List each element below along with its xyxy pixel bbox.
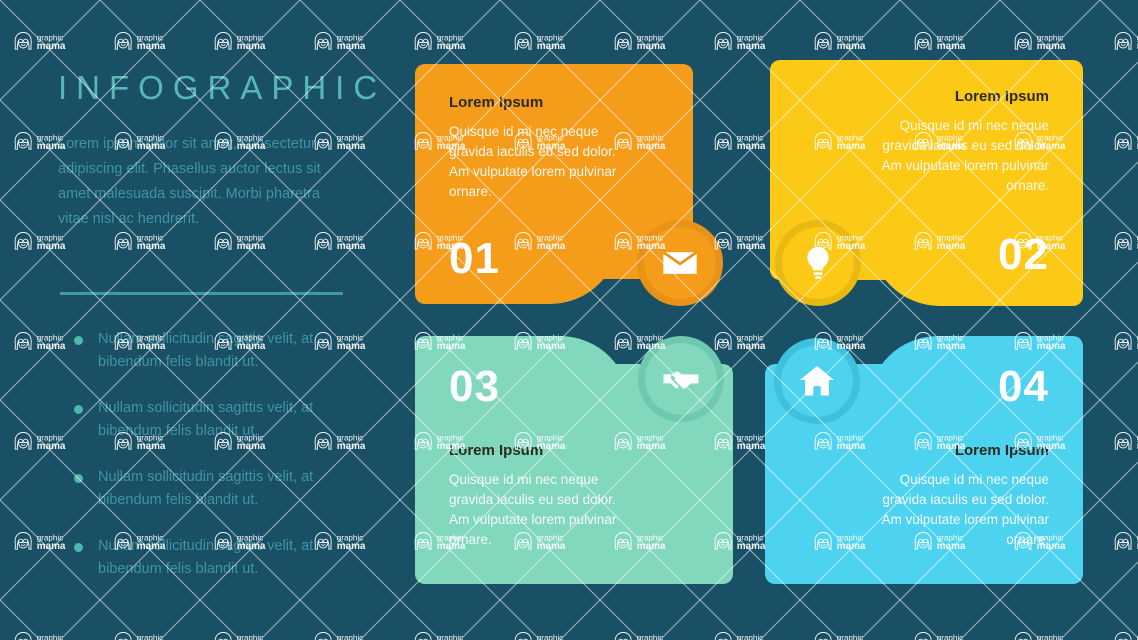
watermark-mark: graphicmama <box>415 32 466 52</box>
face-with-glasses-icon <box>15 132 31 149</box>
watermark-mark: graphicmama <box>715 632 766 640</box>
watermark-mark: graphicmama <box>615 32 666 52</box>
watermark-line-1: graphic <box>237 634 263 640</box>
watermark-line-2: mama <box>637 41 666 52</box>
bullet-dot-icon <box>74 405 83 414</box>
watermark-line-1: graphic <box>37 634 63 640</box>
watermark-mark: graphicmama <box>1115 32 1138 52</box>
card-text: Quisque id mi nec neque gravida iaculis … <box>449 470 631 550</box>
watermark-mark: graphicmama <box>215 632 266 640</box>
watermark-mark: graphicmama <box>715 132 766 152</box>
watermark-line-2: mama <box>937 41 966 52</box>
watermark-line-1: graphic <box>737 334 763 343</box>
list-item: Nullam sollicitudin sagittis velit, at b… <box>66 466 356 512</box>
info-card-01[interactable]: Lorem Ipsum Quisque id mi nec neque grav… <box>415 64 643 304</box>
face-with-glasses-icon <box>815 32 831 49</box>
watermark-line-2: mama <box>37 41 66 52</box>
envelope-icon <box>660 243 700 283</box>
watermark-mark: graphicmama <box>315 232 366 252</box>
info-card-02[interactable]: Lorem Ipsum Quisque id mi nec neque grav… <box>770 60 1083 305</box>
face-with-glasses-icon <box>715 632 731 640</box>
watermark-line-1: graphic <box>437 634 463 640</box>
face-with-glasses-icon <box>215 232 231 249</box>
face-with-glasses-icon <box>15 632 31 640</box>
watermark-line-1: graphic <box>937 34 963 43</box>
watermark-line-1: graphic <box>737 234 763 243</box>
watermark-mark: graphicmama <box>1115 532 1138 552</box>
face-with-glasses-icon <box>1115 332 1131 349</box>
face-with-glasses-icon <box>415 32 431 49</box>
watermark-mark: graphicmama <box>15 32 66 52</box>
card-shape-tail <box>415 184 620 304</box>
watermark-mark: graphicmama <box>1115 132 1138 152</box>
home-icon <box>797 361 837 401</box>
watermark-line-1: graphic <box>137 234 163 243</box>
watermark-line-2: mama <box>37 241 66 252</box>
face-with-glasses-icon <box>1115 432 1131 449</box>
watermark-mark: graphicmama <box>115 32 166 52</box>
face-with-glasses-icon <box>115 32 131 49</box>
card-icon-badge-02[interactable] <box>775 220 861 306</box>
card-heading: Lorem Ipsum <box>804 88 1049 105</box>
card-number: 02 <box>998 230 1049 280</box>
face-with-glasses-icon <box>1115 32 1131 49</box>
face-with-glasses-icon <box>115 232 131 249</box>
watermark-line-2: mama <box>237 41 266 52</box>
watermark-mark: graphicmama <box>315 32 366 52</box>
lightbulb-idea-icon <box>798 243 838 283</box>
face-with-glasses-icon <box>415 632 431 640</box>
card-number: 03 <box>449 362 500 412</box>
watermark-mark: graphicmama <box>715 32 766 52</box>
section-divider <box>60 292 343 295</box>
watermark-line-1: graphic <box>337 634 363 640</box>
face-with-glasses-icon <box>115 632 131 640</box>
card-heading: Lorem Ipsum <box>449 442 699 459</box>
list-item-label: Nullam sollicitudin sagittis velit, at b… <box>98 469 313 508</box>
card-number: 04 <box>998 362 1049 412</box>
watermark-line-1: graphic <box>737 634 763 640</box>
face-with-glasses-icon <box>15 332 31 349</box>
watermark-line-2: mama <box>37 441 66 452</box>
watermark-line-1: graphic <box>837 34 863 43</box>
face-with-glasses-icon <box>15 432 31 449</box>
watermark-line-1: graphic <box>37 34 63 43</box>
card-content: Lorem Ipsum Quisque id mi nec neque grav… <box>804 88 1049 196</box>
card-number: 01 <box>449 234 500 284</box>
watermark-mark: graphicmama <box>515 32 566 52</box>
card-content: Lorem Ipsum Quisque id mi nec neque grav… <box>449 92 609 202</box>
watermark-mark: graphicmama <box>15 332 66 352</box>
face-with-glasses-icon <box>15 532 31 549</box>
face-with-glasses-icon <box>715 32 731 49</box>
face-with-glasses-icon <box>215 632 231 640</box>
watermark-line-1: graphic <box>37 534 63 543</box>
watermark-line-2: mama <box>737 341 766 352</box>
watermark-mark: graphicmama <box>115 232 166 252</box>
watermark-line-1: graphic <box>237 34 263 43</box>
info-card-03[interactable]: Lorem Ipsum Quisque id mi nec neque grav… <box>415 336 733 584</box>
watermark-line-1: graphic <box>437 34 463 43</box>
watermark-mark: graphicmama <box>615 632 666 640</box>
face-with-glasses-icon <box>515 632 531 640</box>
list-item-label: Nullam sollicitudin sagittis velit, at b… <box>98 538 313 577</box>
watermark-line-1: graphic <box>737 34 763 43</box>
watermark-line-1: graphic <box>537 634 563 640</box>
face-with-glasses-icon <box>715 132 731 149</box>
watermark-line-1: graphic <box>937 634 963 640</box>
card-icon-badge-03[interactable] <box>638 336 724 422</box>
card-text: Quisque id mi nec neque gravida iaculis … <box>867 470 1049 550</box>
list-item-label: Nullam sollicitudin sagittis velit, at b… <box>98 331 313 370</box>
watermark-line-2: mama <box>837 41 866 52</box>
watermark-line-2: mama <box>137 241 166 252</box>
card-heading: Lorem Ipsum <box>799 442 1049 459</box>
watermark-mark: graphicmama <box>215 232 266 252</box>
watermark-line-2: mama <box>737 541 766 552</box>
watermark-mark: graphicmama <box>315 632 366 640</box>
watermark-line-2: mama <box>437 41 466 52</box>
card-text: Quisque id mi nec neque gravida iaculis … <box>867 116 1049 196</box>
face-with-glasses-icon <box>615 32 631 49</box>
watermark-mark: graphicmama <box>1115 432 1138 452</box>
bullet-list: Nullam sollicitudin sagittis velit, at b… <box>66 328 356 604</box>
watermark-line-2: mama <box>337 241 366 252</box>
watermark-mark: graphicmama <box>915 632 966 640</box>
watermark-mark: graphicmama <box>415 632 466 640</box>
info-card-04[interactable]: Lorem Ipsum Quisque id mi nec neque grav… <box>765 336 1083 584</box>
watermark-line-1: graphic <box>637 34 663 43</box>
watermark-line-2: mama <box>737 441 766 452</box>
face-with-glasses-icon <box>515 32 531 49</box>
face-with-glasses-icon <box>1115 132 1131 149</box>
watermark-line-2: mama <box>737 241 766 252</box>
watermark-mark: graphicmama <box>515 632 566 640</box>
watermark-line-1: graphic <box>837 634 863 640</box>
watermark-line-1: graphic <box>737 134 763 143</box>
card-shape-tail <box>870 180 1083 306</box>
watermark-line-1: graphic <box>737 534 763 543</box>
watermark-line-1: graphic <box>37 434 63 443</box>
watermark-line-2: mama <box>237 241 266 252</box>
face-with-glasses-icon <box>915 32 931 49</box>
face-with-glasses-icon <box>315 632 331 640</box>
list-item: Nullam sollicitudin sagittis velit, at b… <box>66 535 356 581</box>
card-text: Quisque id mi nec neque gravida iaculis … <box>449 122 631 202</box>
watermark-line-2: mama <box>37 541 66 552</box>
watermark-mark: graphicmama <box>15 632 66 640</box>
watermark-line-2: mama <box>37 341 66 352</box>
watermark-line-1: graphic <box>237 234 263 243</box>
face-with-glasses-icon <box>915 632 931 640</box>
watermark-mark: graphicmama <box>1115 332 1138 352</box>
watermark-line-1: graphic <box>1037 34 1063 43</box>
face-with-glasses-icon <box>15 232 31 249</box>
watermark-line-1: graphic <box>537 34 563 43</box>
watermark-mark: graphicmama <box>215 32 266 52</box>
card-icon-badge-04[interactable] <box>774 338 860 424</box>
watermark-line-1: graphic <box>37 334 63 343</box>
watermark-line-1: graphic <box>137 34 163 43</box>
face-with-glasses-icon <box>1115 632 1131 640</box>
card-icon-badge-01[interactable] <box>637 220 723 306</box>
watermark-mark: graphicmama <box>815 632 866 640</box>
watermark-mark: graphicmama <box>1115 632 1138 640</box>
watermark-line-1: graphic <box>37 234 63 243</box>
face-with-glasses-icon <box>315 232 331 249</box>
watermark-mark: graphicmama <box>15 432 66 452</box>
watermark-line-1: graphic <box>337 34 363 43</box>
bullet-dot-icon <box>74 336 83 345</box>
left-text-column: INFOGRAPHIC Lorem ipsum dolor sit amet, … <box>58 70 358 232</box>
list-item: Nullam sollicitudin sagittis velit, at b… <box>66 397 356 443</box>
face-with-glasses-icon <box>615 632 631 640</box>
watermark-line-1: graphic <box>737 434 763 443</box>
watermark-line-2: mama <box>337 41 366 52</box>
watermark-line-1: graphic <box>1037 634 1063 640</box>
watermark-line-1: graphic <box>137 634 163 640</box>
list-item: Nullam sollicitudin sagittis velit, at b… <box>66 328 356 374</box>
watermark-line-1: graphic <box>337 234 363 243</box>
card-heading: Lorem Ipsum <box>449 94 609 111</box>
watermark-line-2: mama <box>137 41 166 52</box>
face-with-glasses-icon <box>1015 632 1031 640</box>
watermark-mark: graphicmama <box>15 532 66 552</box>
bullet-dot-icon <box>74 543 83 552</box>
watermark-line-2: mama <box>537 41 566 52</box>
watermark-mark: graphicmama <box>1015 32 1066 52</box>
watermark-line-1: graphic <box>637 634 663 640</box>
face-with-glasses-icon <box>1115 232 1131 249</box>
watermark-mark: graphicmama <box>815 32 866 52</box>
intro-paragraph: Lorem ipsum dolor sit amet, consectetur … <box>58 132 348 232</box>
infographic-canvas: INFOGRAPHIC Lorem ipsum dolor sit amet, … <box>0 0 1138 640</box>
page-title: INFOGRAPHIC <box>58 70 358 106</box>
watermark-mark: graphicmama <box>915 32 966 52</box>
list-item-label: Nullam sollicitudin sagittis velit, at b… <box>98 400 313 439</box>
watermark-mark: graphicmama <box>15 232 66 252</box>
bullet-dot-icon <box>74 474 83 483</box>
face-with-glasses-icon <box>1115 532 1131 549</box>
watermark-mark: graphicmama <box>1015 632 1066 640</box>
watermark-line-2: mama <box>737 141 766 152</box>
watermark-mark: graphicmama <box>1115 232 1138 252</box>
watermark-mark: graphicmama <box>715 232 766 252</box>
watermark-line-2: mama <box>1037 41 1066 52</box>
face-with-glasses-icon <box>315 32 331 49</box>
watermark-mark: graphicmama <box>115 632 166 640</box>
handshake-icon <box>661 359 701 399</box>
face-with-glasses-icon <box>1015 32 1031 49</box>
watermark-line-2: mama <box>737 41 766 52</box>
face-with-glasses-icon <box>215 32 231 49</box>
face-with-glasses-icon <box>15 32 31 49</box>
face-with-glasses-icon <box>815 632 831 640</box>
